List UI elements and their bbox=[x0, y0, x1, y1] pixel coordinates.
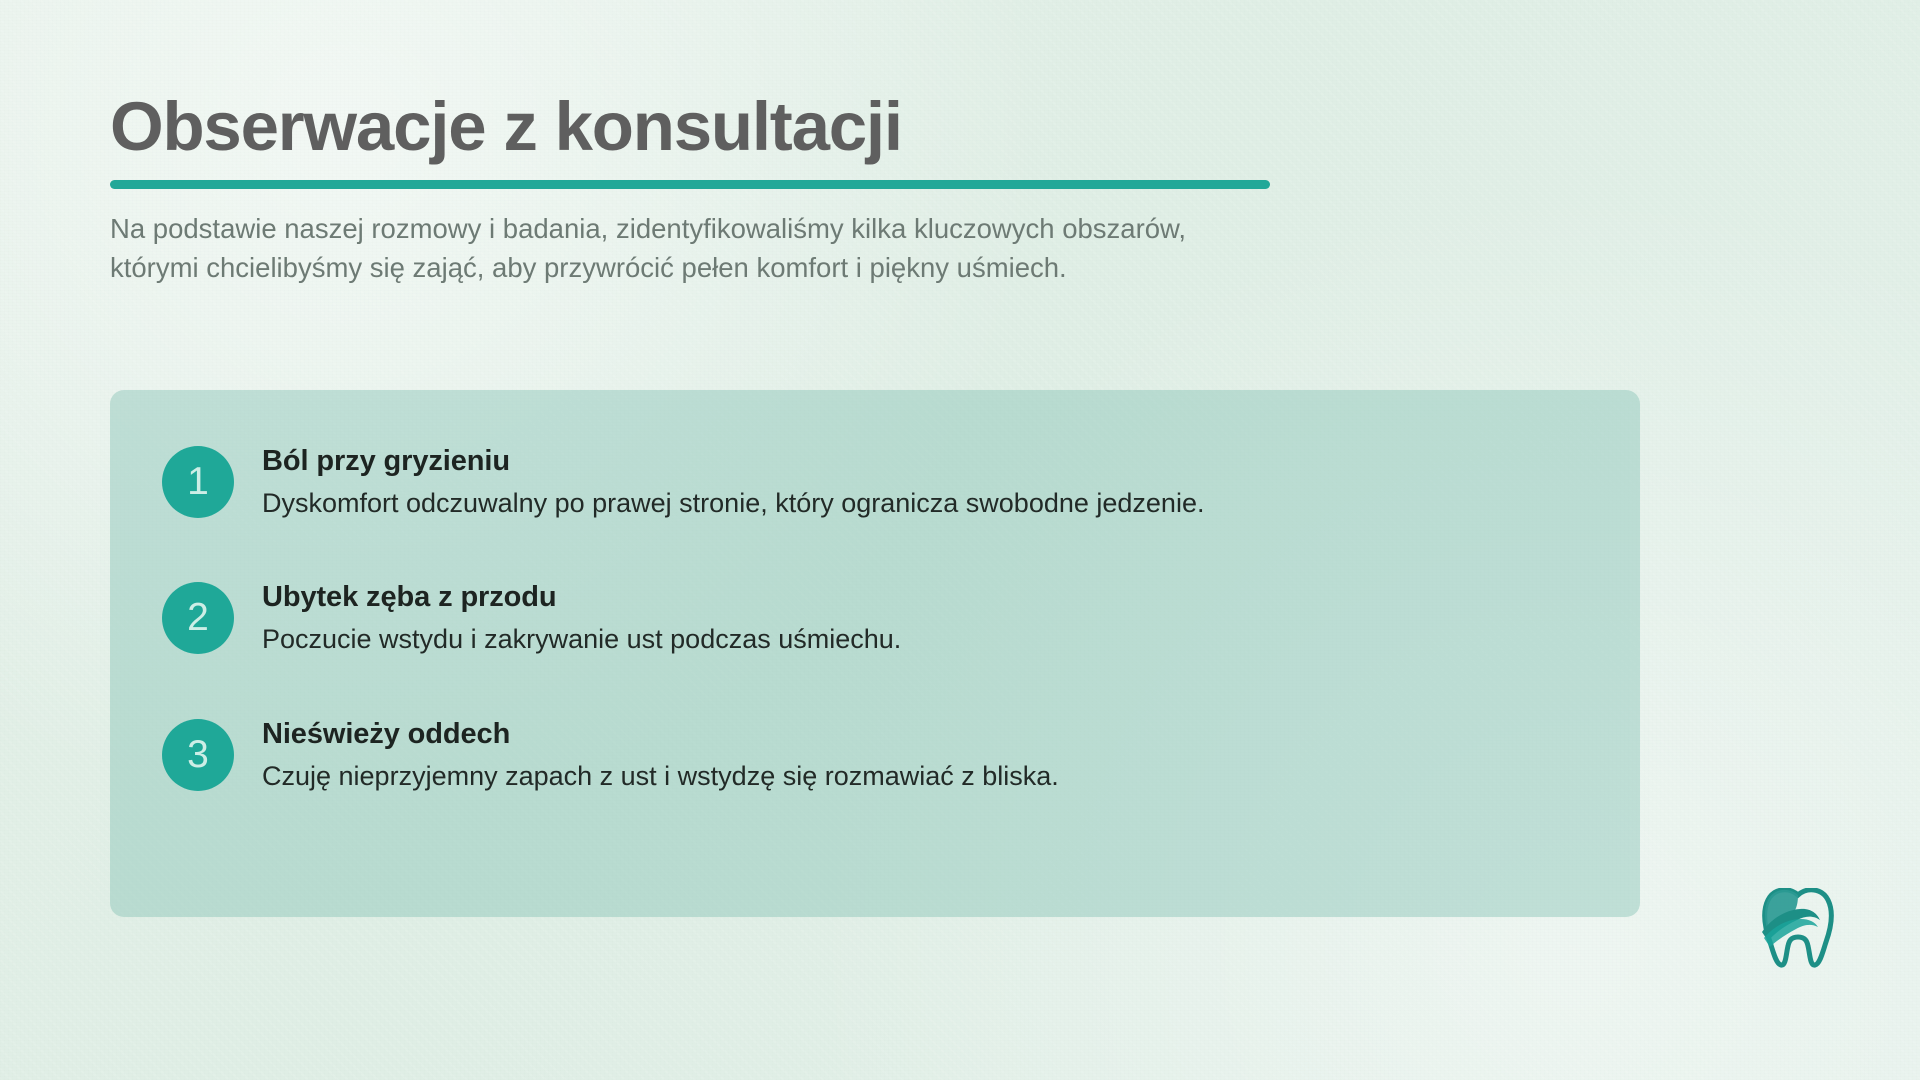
title-underline-rule bbox=[110, 180, 1270, 189]
item-number-badge: 1 bbox=[162, 446, 234, 518]
slide-header: Obserwacje z konsultacji Na podstawie na… bbox=[110, 92, 1610, 287]
list-item: 1 Ból przy gryzieniu Dyskomfort odczuwal… bbox=[162, 442, 1600, 521]
item-text-block: Ubytek zęba z przodu Poczucie wstydu i z… bbox=[262, 578, 901, 657]
slide-canvas: Obserwacje z konsultacji Na podstawie na… bbox=[0, 0, 1920, 1080]
observations-card: 1 Ból przy gryzieniu Dyskomfort odczuwal… bbox=[110, 390, 1640, 917]
observations-list: 1 Ból przy gryzieniu Dyskomfort odczuwal… bbox=[162, 442, 1600, 794]
subtitle-line-1: Na podstawie naszej rozmowy i badania, z… bbox=[110, 209, 1530, 248]
item-number-badge: 2 bbox=[162, 582, 234, 654]
tooth-logo-icon bbox=[1762, 888, 1834, 970]
item-text-block: Ból przy gryzieniu Dyskomfort odczuwalny… bbox=[262, 442, 1204, 521]
list-item: 3 Nieświeży oddech Czuję nieprzyjemny za… bbox=[162, 715, 1600, 794]
page-title: Obserwacje z konsultacji bbox=[110, 92, 1610, 162]
item-title: Nieświeży oddech bbox=[262, 717, 1059, 752]
subtitle-line-2: którymi chcielibyśmy się zająć, aby przy… bbox=[110, 248, 1530, 287]
item-title: Ból przy gryzieniu bbox=[262, 444, 1204, 479]
slide-subtitle: Na podstawie naszej rozmowy i badania, z… bbox=[110, 209, 1530, 287]
item-description: Czuję nieprzyjemny zapach z ust i wstydz… bbox=[262, 759, 1059, 795]
item-description: Dyskomfort odczuwalny po prawej stronie,… bbox=[262, 486, 1204, 522]
item-description: Poczucie wstydu i zakrywanie ust podczas… bbox=[262, 622, 901, 658]
list-item: 2 Ubytek zęba z przodu Poczucie wstydu i… bbox=[162, 578, 1600, 657]
item-text-block: Nieświeży oddech Czuję nieprzyjemny zapa… bbox=[262, 715, 1059, 794]
item-title: Ubytek zęba z przodu bbox=[262, 580, 901, 615]
item-number-badge: 3 bbox=[162, 719, 234, 791]
